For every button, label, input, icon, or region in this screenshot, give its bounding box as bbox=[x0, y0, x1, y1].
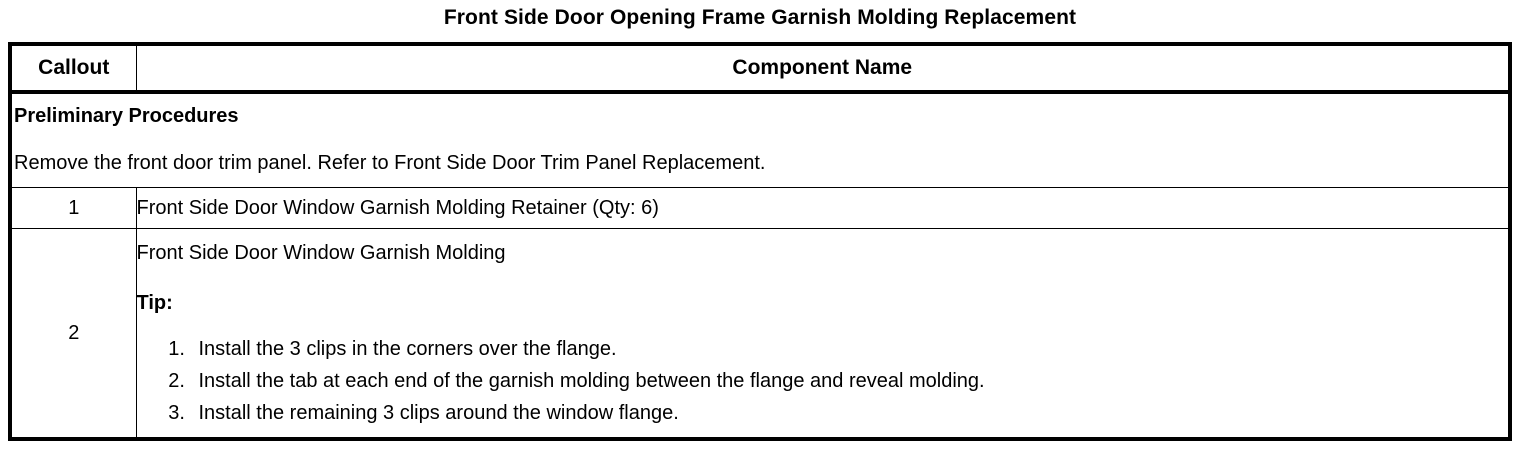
preliminary-procedures-row: Preliminary Procedures Remove the front … bbox=[10, 92, 1510, 188]
list-item: Install the 3 clips in the corners over … bbox=[191, 333, 1509, 365]
component-name-value: Front Side Door Window Garnish Molding R… bbox=[136, 188, 1510, 229]
procedure-table-container: Callout Component Name Preliminary Proce… bbox=[8, 42, 1512, 441]
document-page: Front Side Door Opening Frame Garnish Mo… bbox=[0, 0, 1520, 452]
callout-number: 1 bbox=[10, 188, 136, 229]
preliminary-procedures-heading: Preliminary Procedures bbox=[14, 102, 1508, 130]
list-item: Install the tab at each end of the garni… bbox=[191, 365, 1509, 397]
preliminary-procedures-block: Preliminary Procedures Remove the front … bbox=[12, 94, 1508, 187]
table-row: 1 Front Side Door Window Garnish Molding… bbox=[10, 188, 1510, 229]
page-title: Front Side Door Opening Frame Garnish Mo… bbox=[0, 6, 1520, 30]
preliminary-procedures-cell: Preliminary Procedures Remove the front … bbox=[10, 92, 1510, 188]
procedure-table: Callout Component Name Preliminary Proce… bbox=[8, 42, 1512, 441]
column-header-callout: Callout bbox=[10, 44, 136, 92]
list-item: Install the remaining 3 clips around the… bbox=[191, 397, 1509, 429]
callout-number: 2 bbox=[10, 229, 136, 440]
tip-step-list: Install the 3 clips in the corners over … bbox=[137, 333, 1509, 429]
component-name-text: Front Side Door Window Garnish Molding bbox=[137, 239, 1509, 267]
tip-label: Tip: bbox=[137, 289, 1509, 317]
preliminary-procedures-text: Remove the front door trim panel. Refer … bbox=[14, 149, 1508, 177]
table-header-row: Callout Component Name bbox=[10, 44, 1510, 92]
column-header-component-name: Component Name bbox=[136, 44, 1510, 92]
table-row: 2 Front Side Door Window Garnish Molding… bbox=[10, 229, 1510, 440]
component-name-value-with-tip: Front Side Door Window Garnish Molding T… bbox=[136, 229, 1510, 440]
